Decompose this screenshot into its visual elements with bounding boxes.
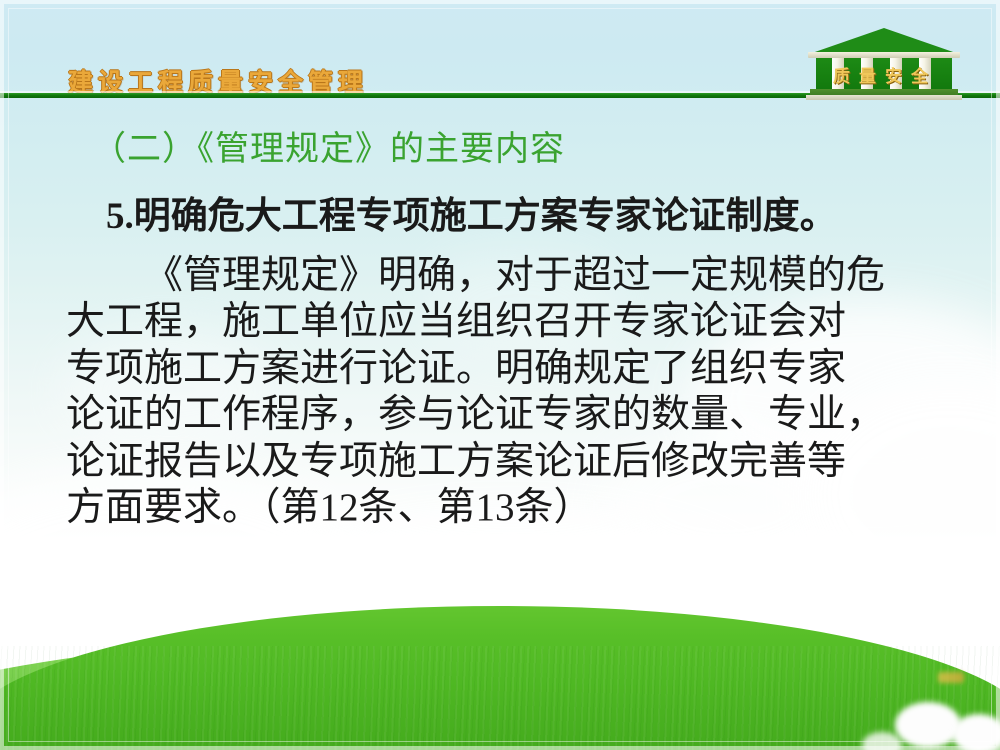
logo-text: 质量安全 xyxy=(820,62,950,87)
body-paragraph: 《管理规定》明确，对于超过一定规模的危 大工程，施工单位应当组织召开专家论证会对… xyxy=(66,253,946,531)
temple-base-step xyxy=(806,95,962,100)
paragraph-line: 论证的工作程序，参与论证专家的数量、专业， xyxy=(66,392,946,438)
paragraph-line: 《管理规定》明确，对于超过一定规模的危 xyxy=(66,253,946,299)
lead-line: 5.明确危大工程专项施工方案专家论证制度。 xyxy=(106,198,946,235)
horizon-speck xyxy=(938,672,964,683)
grass-puff xyxy=(895,702,961,748)
body-text-block: 5.明确危大工程专项施工方案专家论证制度。 《管理规定》明确，对于超过一定规模的… xyxy=(66,198,946,531)
grass-texture xyxy=(0,646,1000,750)
paragraph-line: 论证报告以及专项施工方案论证后修改完善等 xyxy=(66,439,946,485)
section-heading: （二）《管理规定》的主要内容 xyxy=(92,121,565,170)
paragraph-line: 大工程，施工单位应当组织召开专家论证会对 xyxy=(66,299,946,345)
presentation-slide: 建设工程质量安全管理 质量安全 （二）《管理规定》的主要内容 5.明确危大工程专… xyxy=(0,0,1000,750)
slide-header: 建设工程质量安全管理 质量安全 xyxy=(0,0,1000,100)
grass-puff xyxy=(952,714,1000,750)
paragraph-line: 方面要求。（第12条、第13条） xyxy=(66,485,946,531)
temple-roof-icon xyxy=(812,28,956,53)
quality-safety-temple-logo: 质量安全 xyxy=(806,28,962,100)
paragraph-line: 专项施工方案进行论证。明确规定了组织专家 xyxy=(66,346,946,392)
